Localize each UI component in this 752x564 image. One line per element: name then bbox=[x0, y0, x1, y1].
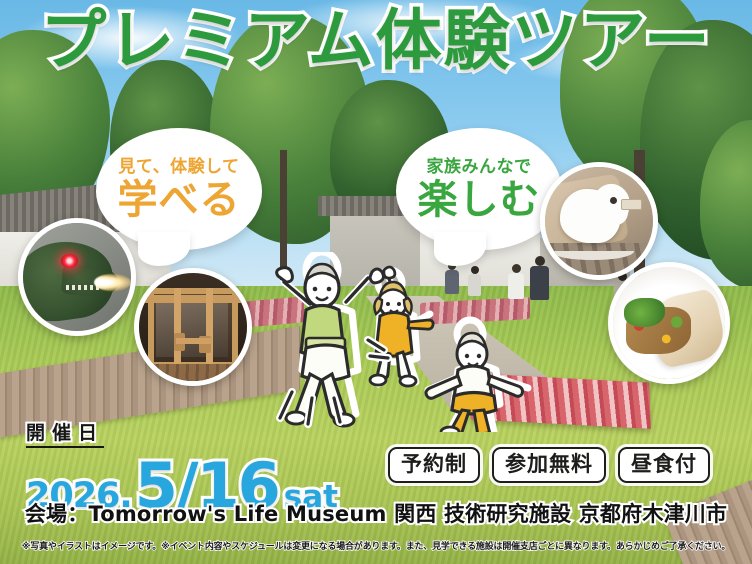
horse-tag bbox=[621, 199, 643, 210]
photo-circle-horse bbox=[540, 162, 658, 280]
food-photo bbox=[613, 267, 725, 379]
photo-circle-food bbox=[608, 262, 730, 384]
house-floor bbox=[139, 364, 247, 381]
bubble-enjoy-maintext: 楽しむ bbox=[418, 180, 541, 220]
house-photo bbox=[139, 273, 247, 381]
badge-reservation: 予約制 bbox=[388, 447, 480, 483]
horse-rocker bbox=[551, 243, 633, 260]
disclaimer-text: ※写真やイラストはイメージです。※イベント内容やスケジュールは変更になる場合があ… bbox=[0, 539, 752, 552]
venue-line: 会場：Tomorrow's Life Museum 関西 技術研究施設 京都府木… bbox=[0, 498, 752, 528]
poster-title: プレミアム体験ツアー bbox=[0, 8, 752, 74]
house-beam bbox=[143, 295, 242, 303]
bubble-learn-subtext: 見て、体験して bbox=[118, 158, 239, 177]
bubble-enjoy-subtext: 家族みんなで bbox=[427, 158, 532, 177]
event-poster: プレミアム体験ツアー 見て、体験して 学べる 家族みんなで 楽しむ bbox=[0, 0, 752, 564]
photo-circle-dragon bbox=[18, 218, 136, 336]
badge-free-entry: 参加無料 bbox=[492, 447, 606, 483]
horse-eye bbox=[610, 197, 617, 204]
house-glass bbox=[156, 297, 227, 357]
info-badges: 予約制 参加無料 昼食付 bbox=[388, 447, 710, 483]
date-label: 開催日 bbox=[26, 418, 104, 448]
badge-lunch-included: 昼食付 bbox=[618, 447, 710, 483]
dragon-photo bbox=[23, 223, 131, 331]
house-table bbox=[176, 338, 213, 344]
dragon-teeth bbox=[66, 285, 98, 290]
food-greens bbox=[624, 298, 664, 327]
speech-bubble-enjoy: 家族みんなで 楽しむ bbox=[396, 128, 562, 250]
cartoon-boy bbox=[426, 333, 523, 432]
dragon-flame bbox=[94, 274, 131, 291]
cartoon-adult bbox=[277, 264, 384, 426]
horse-photo bbox=[545, 167, 653, 275]
house-post-right bbox=[206, 288, 213, 368]
bubble-learn-maintext: 学べる bbox=[118, 180, 241, 220]
house-post-left bbox=[174, 288, 181, 368]
photo-circle-house bbox=[134, 268, 252, 386]
cartoon-family-illustration bbox=[272, 252, 552, 432]
